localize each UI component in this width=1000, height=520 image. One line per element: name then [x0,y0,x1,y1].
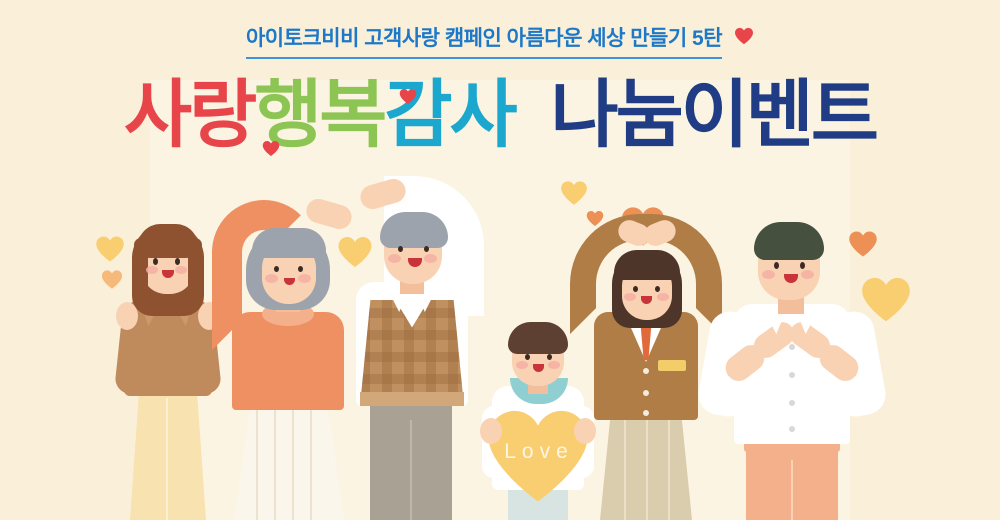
man-blush-left [762,270,775,279]
grandmother-eye-right [298,266,303,272]
boy-hair [508,322,568,354]
schoolgirl-eye-right [655,286,660,292]
man-eye-right [800,262,805,269]
main-title: 사랑 행복 감사 나눔이벤트 [0,78,1000,152]
love-label: Love [496,440,582,464]
man-button-3 [789,400,795,406]
woman-hair-side-right [188,238,202,302]
grandmother-arm-right [314,322,344,408]
man-hair [754,222,824,260]
man-pants-split [791,460,793,520]
schoolgirl-button-2 [643,390,649,396]
schoolgirl-skirt-pleat-2 [646,414,648,520]
boy-hand-left [480,418,502,444]
boy-eye-right [547,354,552,360]
grandfather-trouser-split [410,420,412,520]
boy-blush-left [516,361,528,369]
grandfather-blush-left [388,254,401,263]
man-eye-left [774,262,779,269]
schoolgirl-eye-left [633,286,638,292]
grandmother-skirt-pleat-1 [256,404,258,520]
schoolgirl-name-badge [658,360,686,371]
man-button-1 [789,344,795,350]
boy-eye-left [525,354,530,360]
man-button-4 [789,426,795,432]
grandmother-blush-right [298,274,311,283]
grandmother-skirt [234,400,344,520]
schoolgirl-skirt-pleat-3 [668,414,670,520]
grandfather-eye-right [424,246,429,252]
boy-blush-right [548,361,560,369]
woman-blush-left [146,266,158,274]
heart-icon [734,27,754,50]
figure-young-man [700,220,880,520]
title-word-love: 사랑 [124,78,254,152]
woman-eye-right [175,258,180,265]
grandfather-vest-hem [360,392,464,406]
figure-young-woman [108,220,228,520]
man-button-2 [789,372,795,378]
schoolgirl-blush-left [624,293,636,301]
title-heart-icon-1 [262,140,280,157]
grandmother-blush-left [265,274,278,283]
title-heart-icon-2 [399,88,417,105]
grandfather-blush-right [424,254,437,263]
title-word-sharing-event: 나눔이벤트 [551,78,876,152]
man-blush-right [801,270,814,279]
grandfather-eye-left [398,246,403,252]
schoolgirl-skirt-pleat-1 [624,414,626,520]
schoolgirl-blush-right [657,293,669,301]
campaign-banner: 아이토크비비 고객사랑 캠페인 아름다운 세상 만들기 5탄 사랑 행복 감사 … [0,0,1000,520]
figure-grandfather [342,220,482,520]
grandmother-skirt-pleat-4 [310,404,312,520]
grandmother-hair-bang [252,228,326,258]
schoolgirl-bangs [614,250,680,280]
campaign-subtitle: 아이토크비비 고객사랑 캠페인 아름다운 세상 만들기 5탄 [246,22,722,59]
schoolgirl-button-3 [643,410,649,416]
woman-skirt-line [166,398,168,520]
woman-skirt [130,390,206,520]
woman-blush-right [175,266,187,274]
grandmother-skirt-pleat-2 [274,404,276,520]
decor-heart-icon-yellow-2 [560,180,588,206]
subtitle-row: 아이토크비비 고객사랑 캠페인 아름다운 세상 만들기 5탄 [0,22,1000,59]
grandfather-hair [380,212,448,248]
woman-eye-left [153,258,158,265]
grandmother-eye-left [274,266,279,272]
grandmother-skirt-pleat-3 [292,404,294,520]
schoolgirl-button-1 [643,368,649,374]
